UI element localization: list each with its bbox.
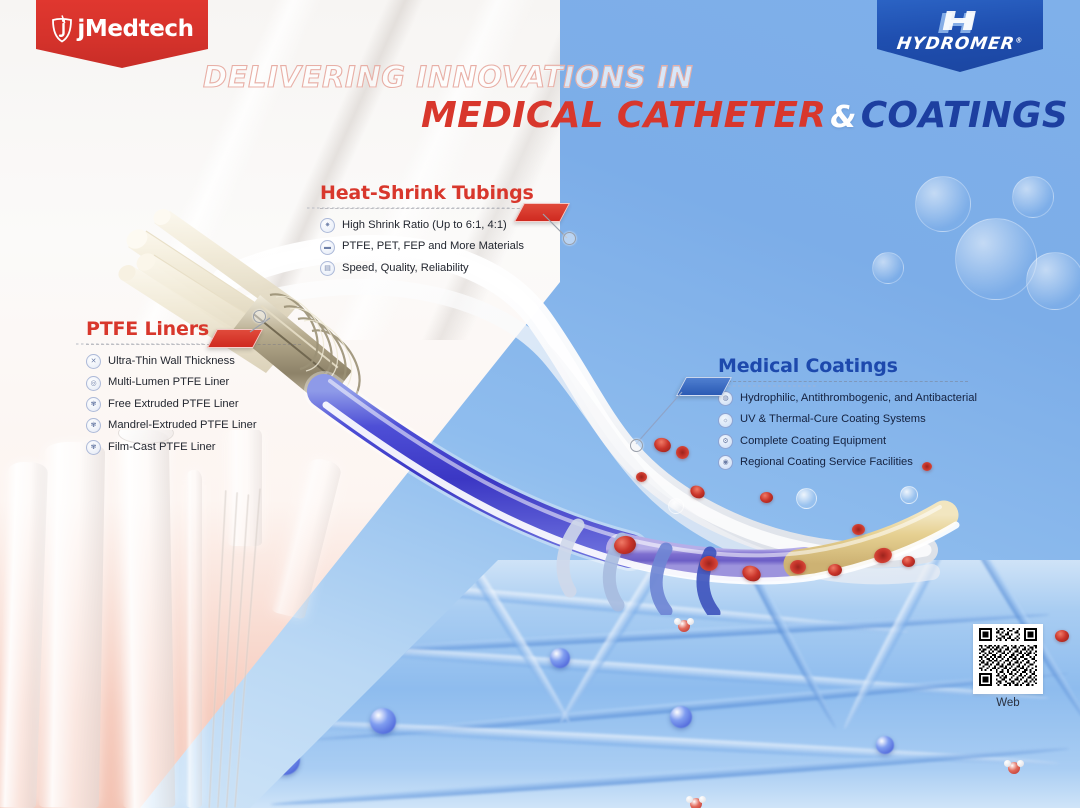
list-item-label: PTFE, PET, FEP and More Materials	[342, 241, 524, 252]
equipment-icon: ⚙	[718, 434, 733, 449]
red-blood-cell	[676, 446, 689, 459]
list-item[interactable]: ▤ Speed, Quality, Reliability	[320, 258, 550, 279]
red-blood-cell	[852, 524, 865, 535]
red-blood-cell	[760, 492, 773, 503]
film-icon: ✾	[86, 440, 101, 455]
callout-list-heat-shrink: ✷ High Shrink Ratio (Up to 6:1, 4:1) ▬ P…	[320, 215, 550, 279]
molecule-bubble	[1026, 252, 1080, 310]
water-bubble	[668, 498, 684, 514]
headline-main-ampersand: &	[826, 100, 860, 135]
callout-title-heat-shrink: Heat-Shrink Tubings	[320, 182, 550, 204]
list-item-label: Mandrel-Extruded PTFE Liner	[108, 420, 257, 431]
callout-marker-heat-shrink	[563, 232, 576, 245]
qr-code-image	[977, 626, 1039, 688]
list-item-label: Ultra-Thin Wall Thickness	[108, 356, 235, 367]
list-item-label: Free Extruded PTFE Liner	[108, 399, 239, 410]
callout-title-ptfe-liners: PTFE Liners	[86, 318, 301, 340]
list-item-label: Speed, Quality, Reliability	[342, 263, 469, 274]
callout-divider	[718, 381, 968, 383]
gauge-icon: ▤	[320, 261, 335, 276]
water-molecule	[1008, 762, 1020, 774]
list-item-label: Multi-Lumen PTFE Liner	[108, 377, 229, 388]
red-blood-cell	[1055, 630, 1069, 642]
callout-heat-shrink-tubings: Heat-Shrink Tubings ✷ High Shrink Ratio …	[320, 182, 550, 279]
hydromer-h-icon	[937, 10, 983, 36]
red-blood-cell	[902, 556, 915, 567]
water-molecule	[678, 620, 690, 632]
list-item-label: Complete Coating Equipment	[740, 436, 886, 447]
callout-ptfe-liners: PTFE Liners ✕ Ultra-Thin Wall Thickness …	[86, 318, 301, 458]
caliper-icon: ✕	[86, 354, 101, 369]
list-item[interactable]: ◎ Multi-Lumen PTFE Liner	[86, 372, 301, 393]
water-molecule	[690, 798, 702, 808]
list-item[interactable]: ◍ Hydrophilic, Antithrombogenic, and Ant…	[718, 388, 968, 409]
headline-main-red: MEDICAL CATHETER	[421, 95, 826, 136]
molecule-bubble	[955, 218, 1037, 300]
list-item-label: Hydrophilic, Antithrombogenic, and Antib…	[740, 393, 977, 404]
callout-divider	[86, 344, 301, 346]
red-blood-cell	[828, 564, 842, 576]
callout-title-medical-coatings: Medical Coatings	[718, 355, 968, 377]
molecule-bubble	[915, 176, 971, 232]
list-item[interactable]: ▬ PTFE, PET, FEP and More Materials	[320, 236, 550, 257]
list-item-label: High Shrink Ratio (Up to 6:1, 4:1)	[342, 220, 507, 231]
list-item[interactable]: ☼ UV & Thermal-Cure Coating Systems	[718, 409, 968, 430]
brand-name-hydromer: HYDROMER®	[896, 34, 1025, 54]
list-item[interactable]: ✾ Free Extruded PTFE Liner	[86, 394, 301, 415]
qr-code-block[interactable]: Web	[973, 624, 1043, 709]
globe-icon: ◉	[718, 455, 733, 470]
headline-main-navy: COATINGS	[861, 95, 1068, 136]
molecule-bubble	[872, 252, 904, 284]
list-item-label: UV & Thermal-Cure Coating Systems	[740, 414, 926, 425]
headline-kicker: DELIVERING INNOVATIONS IN	[203, 60, 693, 94]
material-icon: ▬	[320, 240, 335, 255]
red-blood-cell	[636, 472, 647, 482]
molecule-bubble	[1012, 176, 1054, 218]
callout-list-medical-coatings: ◍ Hydrophilic, Antithrombogenic, and Ant…	[718, 388, 968, 474]
callout-divider	[320, 208, 550, 210]
list-item[interactable]: ✾ Film-Cast PTFE Liner	[86, 437, 301, 458]
callout-medical-coatings: Medical Coatings ◍ Hydrophilic, Antithro…	[718, 355, 968, 474]
red-blood-cell	[700, 556, 718, 571]
list-item[interactable]: ◉ Regional Coating Service Facilities	[718, 452, 968, 473]
qr-code-icon[interactable]	[973, 624, 1043, 694]
water-bubble	[796, 488, 817, 509]
ptfe-tube-stack	[0, 430, 420, 808]
red-blood-cell	[790, 560, 806, 574]
uv-lamp-icon: ☼	[718, 413, 733, 428]
lumen-icon: ◎	[86, 376, 101, 391]
list-item[interactable]: ✾ Mandrel-Extruded PTFE Liner	[86, 415, 301, 436]
callout-list-ptfe-liners: ✕ Ultra-Thin Wall Thickness ◎ Multi-Lume…	[86, 351, 301, 458]
qr-code-label: Web	[973, 697, 1043, 709]
list-item-label: Film-Cast PTFE Liner	[108, 442, 216, 453]
extrude-icon: ✾	[86, 397, 101, 412]
brand-name-jmedtech: jMedtech	[77, 16, 193, 42]
snowflake-icon: ✷	[320, 218, 335, 233]
callout-marker-medical-coatings	[630, 439, 643, 452]
list-item[interactable]: ⚙ Complete Coating Equipment	[718, 431, 968, 452]
shield-j-icon	[50, 15, 75, 44]
headline-main: MEDICAL CATHETER&COATINGS	[421, 95, 1068, 136]
water-bubble	[900, 486, 918, 504]
mandrel-icon: ✾	[86, 418, 101, 433]
list-item-label: Regional Coating Service Facilities	[740, 457, 913, 468]
callout-marker-ptfe-liners	[253, 310, 266, 323]
list-item[interactable]: ✕ Ultra-Thin Wall Thickness	[86, 351, 301, 372]
infographic-poster: jMedtech HYDROMER® DELIVERING INNOVATION…	[0, 0, 1080, 808]
